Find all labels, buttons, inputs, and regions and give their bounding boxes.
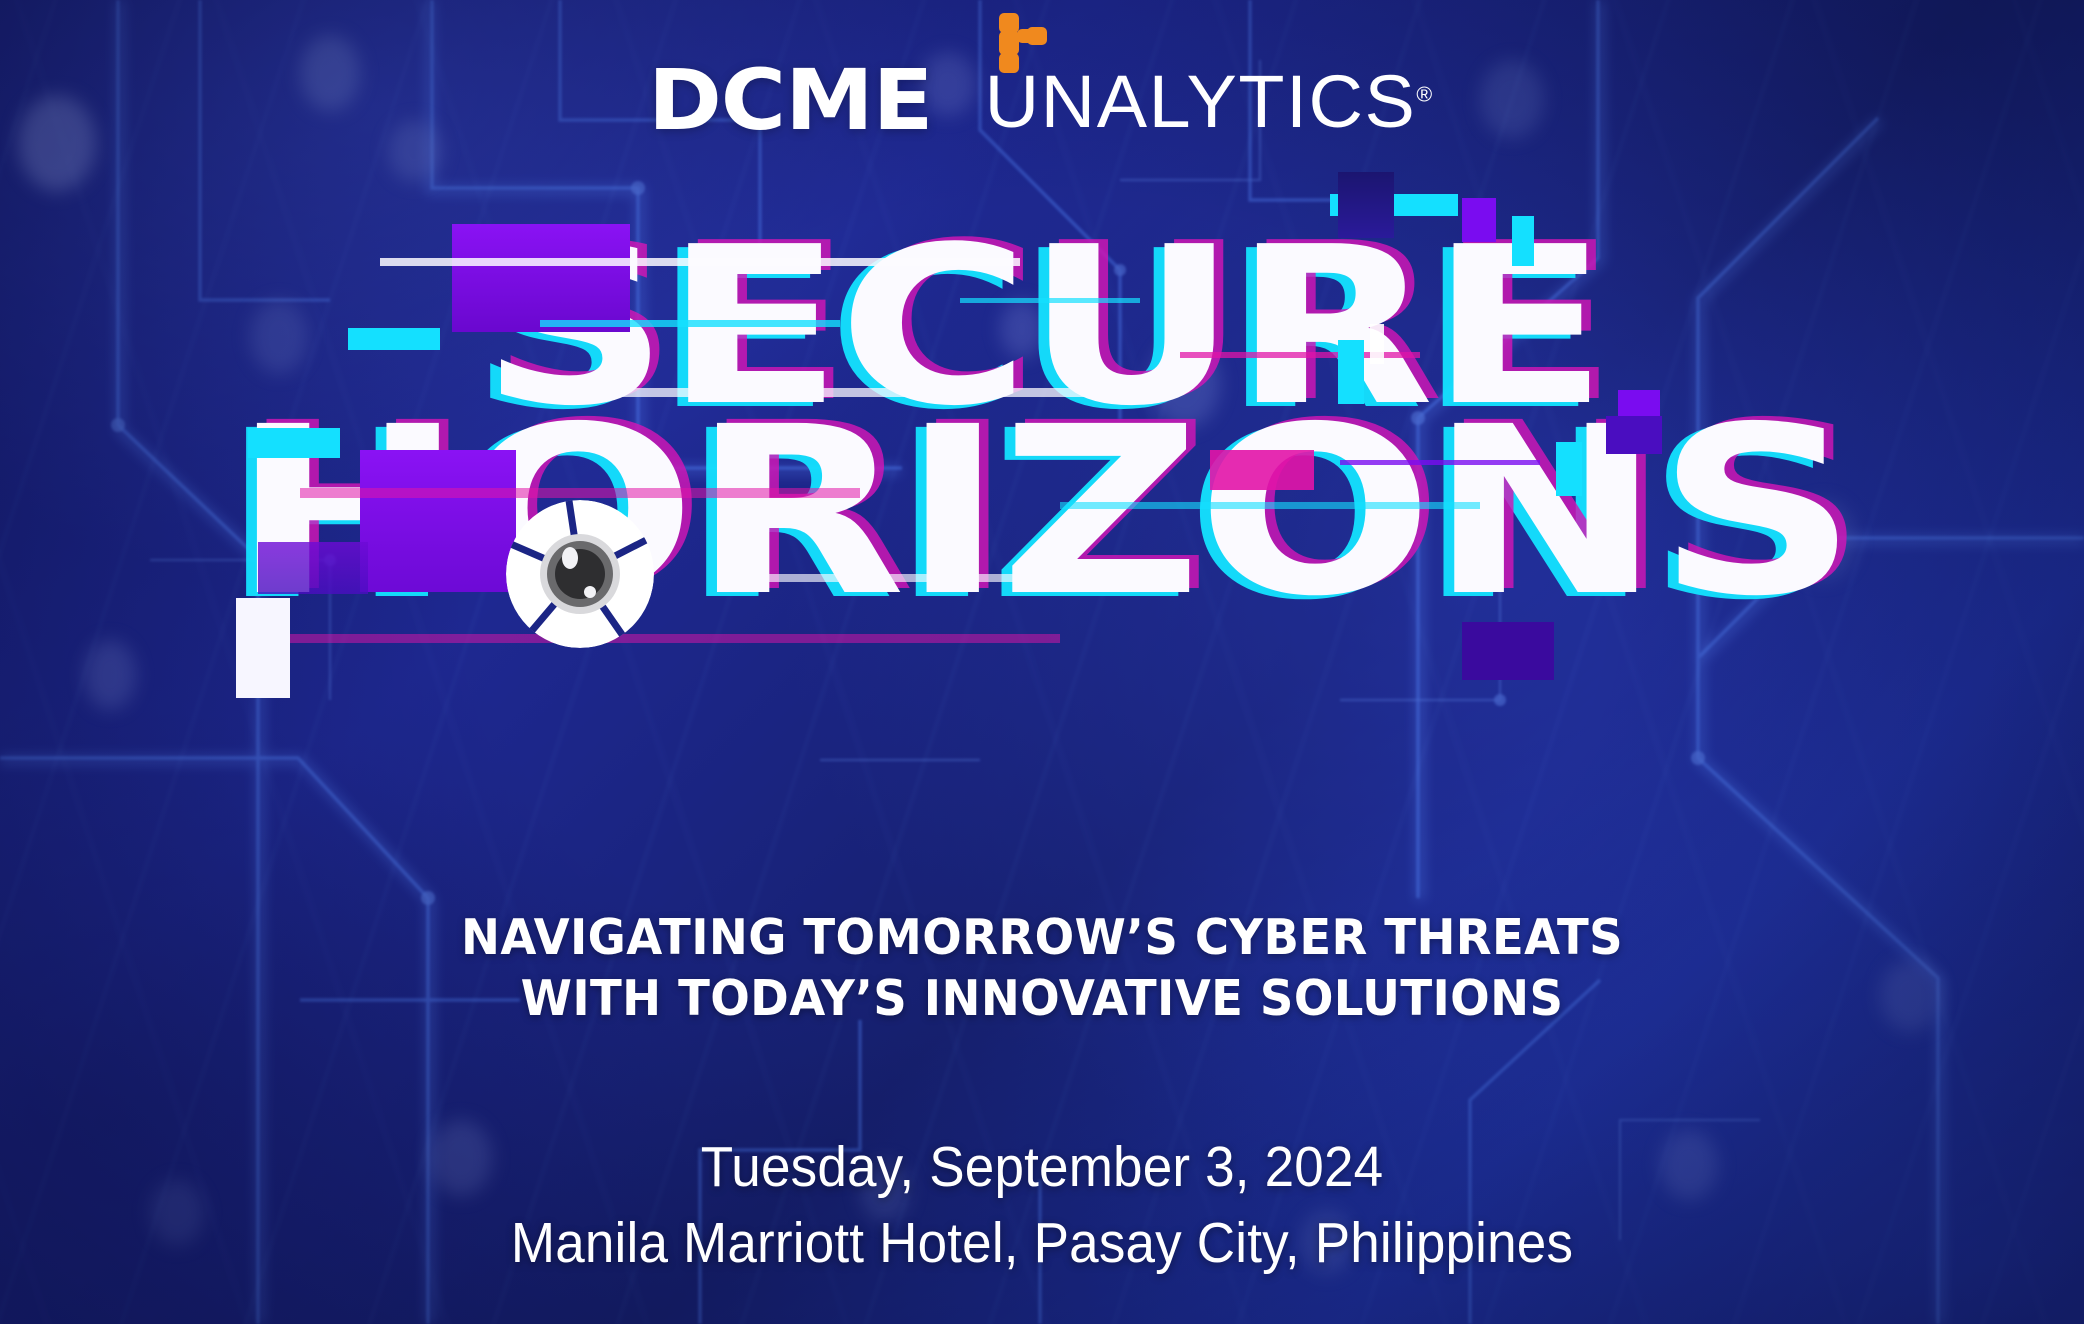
- glitch-block-violet: [258, 542, 368, 594]
- glitch-block-violet: [360, 450, 516, 592]
- glitch-block-cyan: [248, 428, 340, 458]
- glitch-block-cyan: [1512, 216, 1534, 266]
- event-venue: Manila Marriott Hotel, Pasay City, Phili…: [73, 1206, 2011, 1282]
- logo-dcme: DCME: [648, 62, 932, 139]
- glitch-block-white: [1370, 324, 1384, 364]
- glitch-block-dark: [1338, 172, 1394, 238]
- camera-aperture-eye-icon: [504, 490, 656, 658]
- subtitle-line-2: WITH TODAY’S INNOVATIVE SOLUTIONS: [52, 969, 2032, 1030]
- glitch-block-violet: [452, 224, 630, 332]
- glitch-block-cyan: [1338, 340, 1364, 404]
- glitch-block-cyan: [348, 328, 440, 350]
- glitch-block-magenta: [1210, 450, 1314, 490]
- logo-unalytics-text: UNALYTICS®: [984, 65, 1432, 139]
- subtitle-line-1: NAVIGATING TOMORROW’S CYBER THREATS: [52, 908, 2032, 969]
- glitch-block-violet: [1462, 622, 1554, 680]
- glitch-block-violet: [1462, 198, 1496, 242]
- glitch-block-cyan: [1556, 442, 1582, 496]
- title-line-1-magenta-layer: SECURE: [0, 228, 2084, 420]
- registered-mark: ®: [1416, 84, 1432, 107]
- title-line-1-cyan-layer: SECURE: [0, 236, 2084, 428]
- logo-row: DCME UNALYTICS®: [0, 62, 2084, 139]
- glitch-title: SECURE SECURE SECURE HORIZONS HORIZONS H…: [0, 232, 2084, 614]
- glitch-block-violet: [1606, 416, 1662, 454]
- glitch-block-white: [236, 598, 290, 698]
- title-line-1: SECURE SECURE SECURE: [0, 232, 2084, 424]
- event-banner: DCME UNALYTICS®: [0, 0, 2084, 1324]
- event-subtitle: NAVIGATING TOMORROW’S CYBER THREATS WITH…: [52, 908, 2032, 1030]
- event-date: Tuesday, September 3, 2024: [73, 1130, 2011, 1206]
- event-details: Tuesday, September 3, 2024 Manila Marrio…: [73, 1130, 2011, 1282]
- logo-unalytics: UNALYTICS®: [989, 65, 1428, 139]
- logo-unalytics-wordmark: UNALYTICS: [984, 60, 1416, 143]
- banner-content: DCME UNALYTICS®: [0, 0, 2084, 1324]
